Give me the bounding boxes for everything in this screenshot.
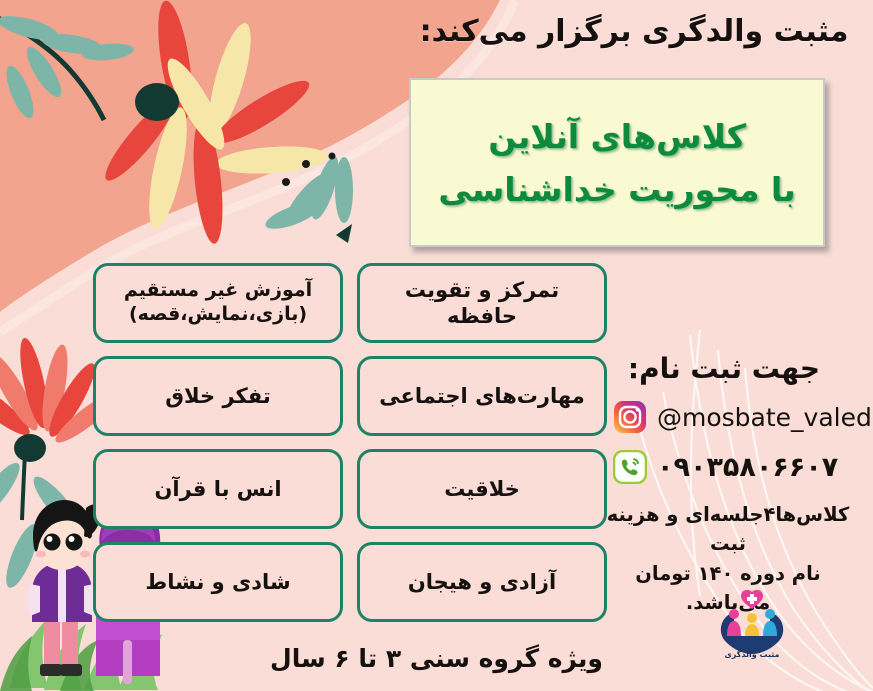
topic-label: مهارت‌های اجتماعی <box>379 383 584 409</box>
fee-note-line1: کلاس‌ها۴جلسه‌ای و هزینه ثبت <box>603 500 853 559</box>
instagram-icon[interactable] <box>613 400 647 434</box>
topic-box: تمرکز و تقویت حافظه <box>357 263 607 343</box>
instagram-contact-row[interactable]: @mosbate_valedgari <box>613 400 873 434</box>
teal-fan-sprig <box>263 153 353 244</box>
topic-label: شادی و نشاط <box>145 569 290 595</box>
topic-box: آزادی و هیجان <box>357 542 607 622</box>
topic-box: انس با قرآن <box>93 449 343 529</box>
topic-box: آموزش غیر مستقیم (بازی،نمایش،قصه) <box>93 263 343 343</box>
title-plate: کلاس‌های آنلاین با محوریت خداشناسی <box>409 78 825 247</box>
phone-contact-row[interactable]: ۰۹۰۳۵۸۰۶۶۰۷ <box>613 450 838 484</box>
topic-label: خلاقیت <box>444 476 520 502</box>
topic-column-right: آموزش غیر مستقیم (بازی،نمایش،قصه) تفکر خ… <box>93 263 343 635</box>
title-line-2: با محوریت خداشناسی <box>438 170 795 209</box>
instagram-handle[interactable]: @mosbate_valedgari <box>657 403 873 432</box>
topic-box: خلاقیت <box>357 449 607 529</box>
top-left-flower <box>0 0 329 245</box>
topic-box: مهارت‌های اجتماعی <box>357 356 607 436</box>
topic-column-left: تمرکز و تقویت حافظه مهارت‌های اجتماعی خل… <box>357 263 607 635</box>
poster-canvas: مثبت والدگری برگزار می‌کند: کلاس‌های آنل… <box>0 0 873 691</box>
phone-call-icon[interactable] <box>613 450 647 484</box>
phone-number[interactable]: ۰۹۰۳۵۸۰۶۶۰۷ <box>657 452 838 483</box>
signup-heading: جهت ثبت نام: <box>599 352 849 385</box>
topic-label: آموزش غیر مستقیم (بازی،نمایش،قصه) <box>124 279 312 327</box>
age-group-line: ویژه گروه سنی ۳ تا ۶ سال <box>0 644 873 673</box>
topic-box: شادی و نشاط <box>93 542 343 622</box>
topic-label: انس با قرآن <box>154 476 281 502</box>
topic-box: تفکر خلاق <box>93 356 343 436</box>
topic-label-line1: آموزش غیر مستقیم <box>124 279 312 303</box>
title-line-1: کلاس‌های آنلاین <box>488 117 746 156</box>
topic-label: تمرکز و تقویت حافظه <box>368 277 596 330</box>
topic-label-line2: (بازی،نمایش،قصه) <box>124 303 312 327</box>
topic-label: آزادی و هیجان <box>408 569 556 595</box>
organizer-header: مثبت والدگری برگزار می‌کند: <box>419 14 849 49</box>
topic-label: تفکر خلاق <box>165 383 270 409</box>
